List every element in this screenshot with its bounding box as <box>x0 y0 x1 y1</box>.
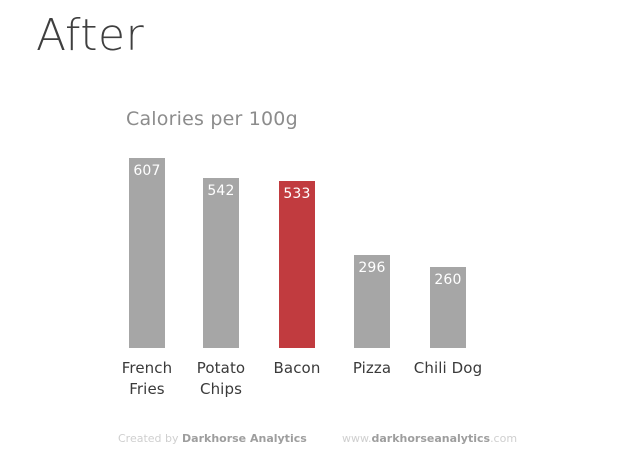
bar-group: 260Chili Dog <box>411 0 486 420</box>
bar-category-label: Pizza <box>335 358 410 379</box>
bar-bacon[interactable]: 533 <box>279 181 315 348</box>
bar-category-label: Chili Dog <box>411 358 486 379</box>
bar-chart-plot-area: 607FrenchFries542PotatoChips533Bacon296P… <box>0 0 640 420</box>
bar-value-label: 542 <box>203 183 239 199</box>
bar-pizza[interactable]: 296 <box>354 255 390 348</box>
bar-french-fries[interactable]: 607 <box>129 158 165 348</box>
bar-value-label: 533 <box>279 186 315 202</box>
bar-value-label: 296 <box>354 260 390 276</box>
bar-category-label-line: Potato <box>197 359 245 377</box>
bar-category-label-line: Fries <box>110 379 185 400</box>
footer-credit-brand: Darkhorse Analytics <box>182 432 307 445</box>
footer-url-suffix: .com <box>490 432 517 445</box>
footer-url-prefix: www. <box>342 432 371 445</box>
bar-category-label: PotatoChips <box>184 358 259 400</box>
bar-category-label-line: French <box>122 359 172 377</box>
bar-category-label: FrenchFries <box>110 358 185 400</box>
bar-value-label: 260 <box>430 272 466 288</box>
bar-group: 607FrenchFries <box>110 0 185 420</box>
bar-category-label-line: Chips <box>184 379 259 400</box>
bar-group: 533Bacon <box>260 0 335 420</box>
footer-credit-prefix: Created by <box>118 432 182 445</box>
footer-url-brand: darkhorseanalytics <box>371 432 490 445</box>
bar-category-label-line: Pizza <box>353 359 391 377</box>
bar-category-label-line: Bacon <box>274 359 321 377</box>
bar-chili-dog[interactable]: 260 <box>430 267 466 348</box>
bar-category-label: Bacon <box>260 358 335 379</box>
bar-group: 296Pizza <box>335 0 410 420</box>
footer-credit: Created by Darkhorse Analytics <box>118 432 307 445</box>
chart-footer: Created by Darkhorse Analytics www.darkh… <box>0 432 640 452</box>
footer-url[interactable]: www.darkhorseanalytics.com <box>342 432 517 445</box>
bar-potato-chips[interactable]: 542 <box>203 178 239 348</box>
bar-value-label: 607 <box>129 163 165 179</box>
bar-group: 542PotatoChips <box>184 0 259 420</box>
bar-category-label-line: Chili Dog <box>414 359 482 377</box>
